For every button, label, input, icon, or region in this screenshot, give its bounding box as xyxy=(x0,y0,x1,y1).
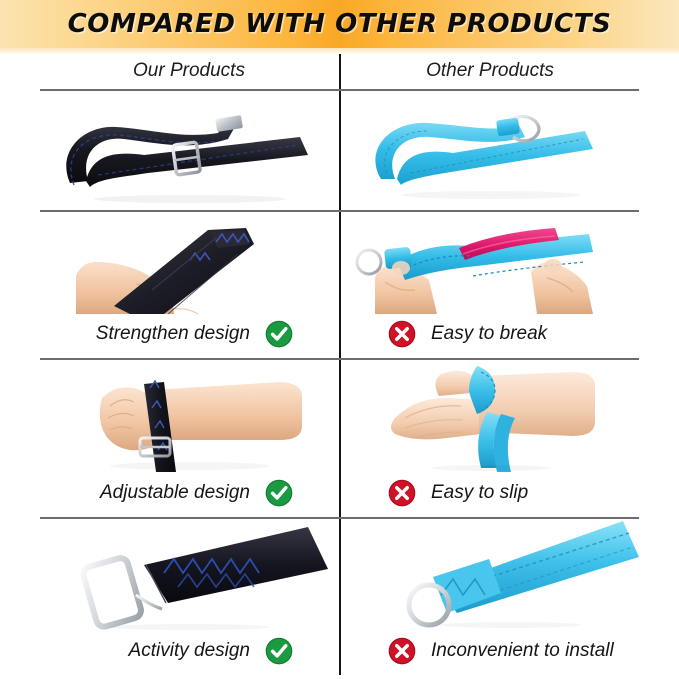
caption-row-easy-to-break: Easy to break xyxy=(341,314,639,354)
caption-text: Adjustable design xyxy=(100,482,250,504)
check-icon xyxy=(264,478,294,508)
cross-icon xyxy=(387,319,417,349)
image-blue-strap-end-with-metal-o-ring xyxy=(341,521,639,631)
caption-row-activity-design: Activity design xyxy=(40,631,338,671)
cross-icon xyxy=(387,636,417,666)
check-icon xyxy=(264,636,294,666)
cross-icon xyxy=(387,478,417,508)
cell-easy-to-slip: Easy to slip xyxy=(341,360,639,517)
caption-text: Activity design xyxy=(129,640,250,662)
cell-strengthen-design: Strengthen design xyxy=(40,212,338,358)
cell-adjustable-design: Adjustable design xyxy=(40,360,338,517)
image-two-hands-pulling-apart-blue-strap-pink-lining xyxy=(341,214,639,314)
caption-row-strengthen-design: Strengthen design xyxy=(40,314,338,354)
header-banner: COMPARED WITH OTHER PRODUCTS xyxy=(0,0,679,48)
caption-row-inconvenient-to-install: Inconvenient to install xyxy=(341,631,639,671)
image-blue-strap-slipping-off-open-hand xyxy=(341,362,639,472)
image-black-nylon-wrist-strap-with-metal-buckle xyxy=(40,95,338,207)
caption-row-easy-to-slip: Easy to slip xyxy=(341,473,639,513)
caption-text: Easy to slip xyxy=(431,482,528,504)
image-wrist-wearing-black-adjustable-strap xyxy=(40,362,338,472)
column-header-other-products: Other Products xyxy=(341,54,639,88)
image-black-strap-with-metal-carabiner-clip xyxy=(40,521,338,631)
column-header-left-label: Our Products xyxy=(133,60,245,82)
comparison-grid: Our Products Other Products xyxy=(0,52,679,679)
caption-text: Easy to break xyxy=(431,323,547,345)
cell-inconvenient-to-install: Inconvenient to install xyxy=(341,519,639,675)
cell-activity-design: Activity design xyxy=(40,519,338,675)
caption-text: Strengthen design xyxy=(96,323,250,345)
cell-easy-to-break: Easy to break xyxy=(341,212,639,358)
cell-other-product-overview xyxy=(341,91,639,210)
image-blue-padded-wrist-strap-with-d-ring xyxy=(341,95,639,207)
comparison-chart: COMPARED WITH OTHER PRODUCTS Our Product… xyxy=(0,0,679,679)
table-row: Activity design xyxy=(0,519,679,675)
table-row: Strengthen design xyxy=(0,212,679,358)
caption-row-adjustable-design: Adjustable design xyxy=(40,473,338,513)
check-icon xyxy=(264,319,294,349)
table-row: Adjustable design xyxy=(0,360,679,517)
image-hand-holding-black-reinforced-strap xyxy=(40,214,338,314)
table-row xyxy=(0,91,679,210)
cell-our-product-overview xyxy=(40,91,338,210)
banner-title: COMPARED WITH OTHER PRODUCTS xyxy=(68,9,612,39)
caption-text: Inconvenient to install xyxy=(431,640,614,662)
column-header-right-label: Other Products xyxy=(426,60,554,82)
column-header-our-products: Our Products xyxy=(40,54,338,88)
